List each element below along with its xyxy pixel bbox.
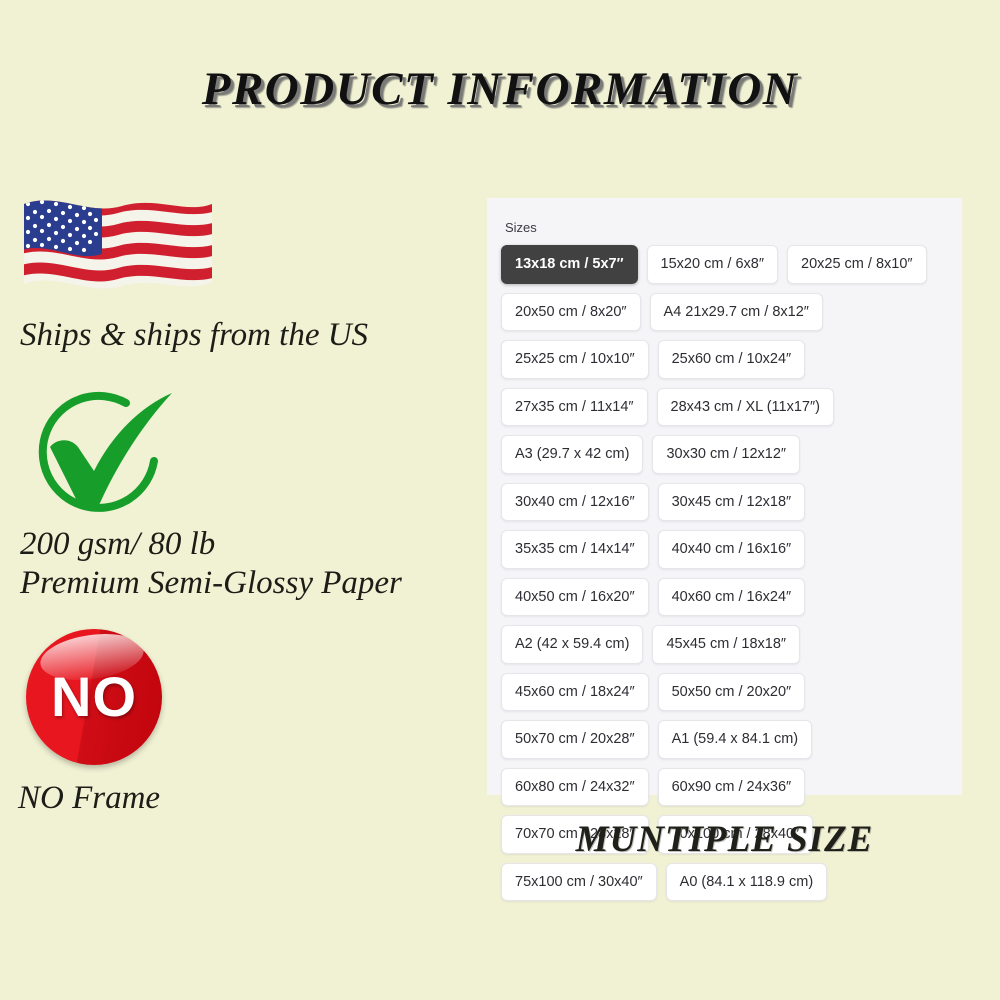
feature-label-paper: 200 gsm/ 80 lb Premium Semi-Glossy Paper — [20, 525, 474, 603]
size-chip[interactable]: 30x45 cm / 12x18″ — [658, 483, 806, 522]
size-chip[interactable]: 13x18 cm / 5x7″ — [501, 245, 638, 284]
feature-no-frame: NO NO Frame — [14, 629, 474, 818]
size-chip[interactable]: A4 21x29.7 cm / 8x12″ — [650, 293, 823, 332]
size-chip[interactable]: 30x30 cm / 12x12″ — [652, 435, 800, 474]
size-chip[interactable]: 35x35 cm / 14x14″ — [501, 530, 649, 569]
size-chip[interactable]: 25x25 cm / 10x10″ — [501, 340, 649, 379]
size-chip[interactable]: A2 (42 x 59.4 cm) — [501, 625, 643, 664]
size-chip[interactable]: 28x43 cm / XL (11x17″) — [657, 388, 834, 427]
size-chip[interactable]: 45x45 cm / 18x18″ — [652, 625, 800, 664]
size-chip[interactable]: 60x80 cm / 24x32″ — [501, 768, 649, 807]
size-chip[interactable]: 60x90 cm / 24x36″ — [658, 768, 806, 807]
size-chip[interactable]: 40x60 cm / 16x24″ — [658, 578, 806, 617]
feature-label-ships: Ships & ships from the US — [20, 316, 474, 355]
size-chip[interactable]: 40x50 cm / 16x20″ — [501, 578, 649, 617]
size-chip[interactable]: 75x100 cm / 30x40″ — [501, 863, 657, 902]
size-chip[interactable]: 30x40 cm / 12x16″ — [501, 483, 649, 522]
size-option-list: 13x18 cm / 5x7″15x20 cm / 6x8″20x25 cm /… — [501, 245, 948, 901]
page-title: PRODUCT INFORMATION — [0, 62, 1000, 116]
feature-label-no-frame: NO Frame — [18, 779, 474, 818]
feature-paper-quality: 200 gsm/ 80 lb Premium Semi-Glossy Paper — [14, 387, 474, 603]
size-chip[interactable]: 15x20 cm / 6x8″ — [647, 245, 778, 284]
size-chip[interactable]: 50x70 cm / 20x28″ — [501, 720, 649, 759]
no-badge-icon: NO — [26, 629, 166, 769]
sizes-label: Sizes — [505, 220, 948, 235]
feature-ships-from-us: Ships & ships from the US — [14, 190, 474, 355]
size-chip[interactable]: A0 (84.1 x 118.9 cm) — [666, 863, 828, 902]
size-chip[interactable]: A3 (29.7 x 42 cm) — [501, 435, 643, 474]
multiple-size-caption: MUNTIPLE SIZE — [487, 818, 962, 861]
us-flag-icon — [18, 190, 216, 310]
size-chip[interactable]: 27x35 cm / 11x14″ — [501, 388, 648, 427]
size-chip[interactable]: 20x50 cm / 8x20″ — [501, 293, 641, 332]
badge-label: NO — [26, 629, 162, 765]
size-chip[interactable]: 45x60 cm / 18x24″ — [501, 673, 649, 712]
size-chip[interactable]: 25x60 cm / 10x24″ — [658, 340, 806, 379]
sizes-panel: Sizes 13x18 cm / 5x7″15x20 cm / 6x8″20x2… — [487, 198, 962, 795]
green-check-icon — [22, 387, 188, 519]
size-chip[interactable]: 20x25 cm / 8x10″ — [787, 245, 927, 284]
features-column: Ships & ships from the US 200 gsm/ 80 lb… — [14, 190, 474, 818]
size-chip[interactable]: 50x50 cm / 20x20″ — [658, 673, 806, 712]
size-chip[interactable]: A1 (59.4 x 84.1 cm) — [658, 720, 813, 759]
size-chip[interactable]: 40x40 cm / 16x16″ — [658, 530, 806, 569]
